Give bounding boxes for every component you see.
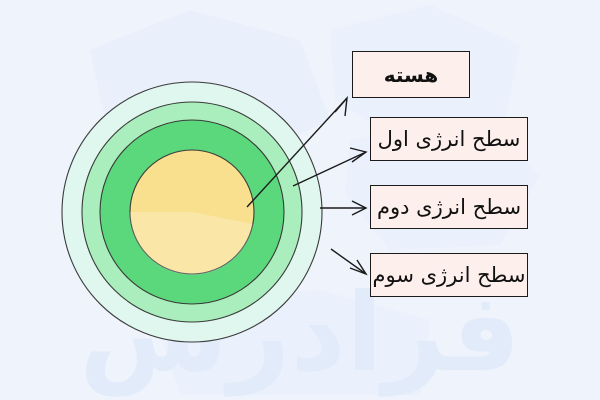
label-box-nucleus[interactable]: هسته [352, 51, 470, 98]
label-text-nucleus: هسته [384, 65, 439, 85]
label-text-level3: سطح انرژی سوم [372, 265, 525, 286]
label-text-level2: سطح انرژی دوم [377, 197, 521, 218]
label-box-level3[interactable]: سطح انرژی سوم [370, 253, 528, 297]
label-box-level2[interactable]: سطح انرژی دوم [370, 185, 528, 229]
label-box-level1[interactable]: سطح انرژی اول [370, 117, 528, 161]
label-text-level1: سطح انرژی اول [378, 129, 521, 150]
shell-circles [62, 82, 322, 342]
